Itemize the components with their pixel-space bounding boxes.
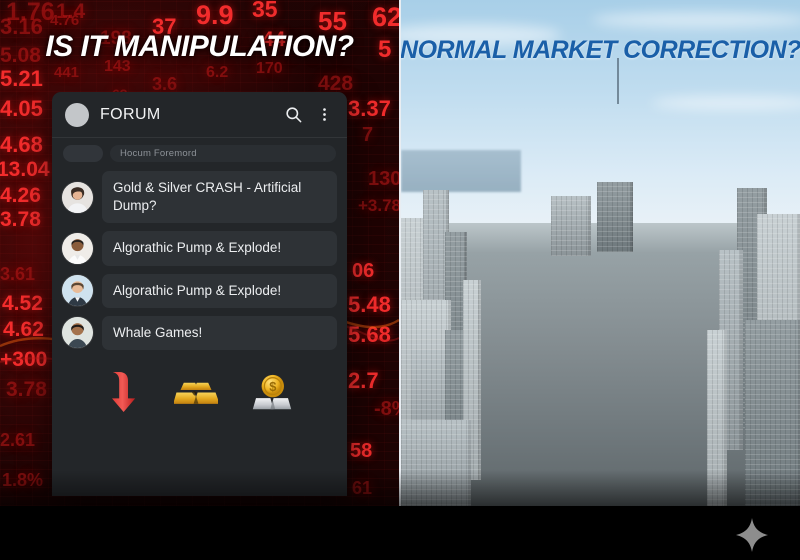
thread-title-container: Algorathic Pump & Explode! xyxy=(102,231,337,265)
gold-bars-icon xyxy=(174,376,218,414)
avatar xyxy=(62,317,93,348)
more-vertical-icon[interactable] xyxy=(314,105,334,125)
panel-divider xyxy=(399,0,401,506)
bottom-bar xyxy=(0,506,800,560)
avatar xyxy=(62,275,93,306)
avatar xyxy=(62,182,93,213)
thread-list: Gold & Silver CRASH - Artificial Dump? xyxy=(52,168,347,350)
svg-text:$: $ xyxy=(269,378,276,393)
thread-title-container: Algorathic Pump & Explode! xyxy=(102,274,337,308)
list-item[interactable]: Whale Games! xyxy=(62,316,337,350)
screenshot-root: 1.76 1.4 9.9 35 55 62 3.16 4.76 37 44 5 … xyxy=(0,0,800,560)
list-item[interactable]: Gold & Silver CRASH - Artificial Dump? xyxy=(62,171,337,223)
four-point-star-icon xyxy=(736,518,768,552)
thread-title: Gold & Silver CRASH - Artificial Dump? xyxy=(113,179,326,215)
page-title: FORUM xyxy=(100,106,272,124)
left-headline: IS IT MANIPULATION? xyxy=(45,30,353,64)
right-headline: NORMAL MARKET CORRECTION? xyxy=(401,36,800,65)
reaction-emoji-row: $ xyxy=(52,358,347,419)
search-icon[interactable] xyxy=(283,105,303,125)
avatar xyxy=(62,233,93,264)
forum-app-card: FORUM Hocum Foremord xyxy=(52,92,347,496)
building xyxy=(597,182,633,252)
thread-title: Whale Games! xyxy=(113,324,202,342)
thread-title: Algorathic Pump & Explode! xyxy=(113,282,281,300)
forum-appbar: FORUM xyxy=(52,92,347,138)
search-placeholder: Hocum Foremord xyxy=(120,148,197,159)
right-panel: NORMAL MARKET CORRECTION? Natur xyxy=(401,0,800,506)
red-down-arrow-icon xyxy=(108,370,140,419)
building xyxy=(745,320,800,506)
thread-title: Algorathic Pump & Explode! xyxy=(113,239,281,257)
search-row: Hocum Foremord xyxy=(52,138,347,168)
silver-coin-bars-icon: $ xyxy=(252,374,292,416)
filter-chip[interactable] xyxy=(63,145,103,162)
list-item[interactable]: Algorathic Pump & Explode! xyxy=(62,274,337,308)
building xyxy=(707,330,727,506)
left-panel: 1.76 1.4 9.9 35 55 62 3.16 4.76 37 44 5 … xyxy=(0,0,399,506)
building xyxy=(401,420,471,506)
list-item[interactable]: Algorathic Pump & Explode! xyxy=(62,231,337,265)
river xyxy=(401,150,521,192)
thread-title-container: Whale Games! xyxy=(102,316,337,350)
avatar[interactable] xyxy=(65,103,89,127)
thread-title-container: Gold & Silver CRASH - Artificial Dump? xyxy=(102,171,337,223)
search-input[interactable]: Hocum Foremord xyxy=(110,145,336,162)
building xyxy=(551,196,591,256)
cloud xyxy=(591,12,800,28)
